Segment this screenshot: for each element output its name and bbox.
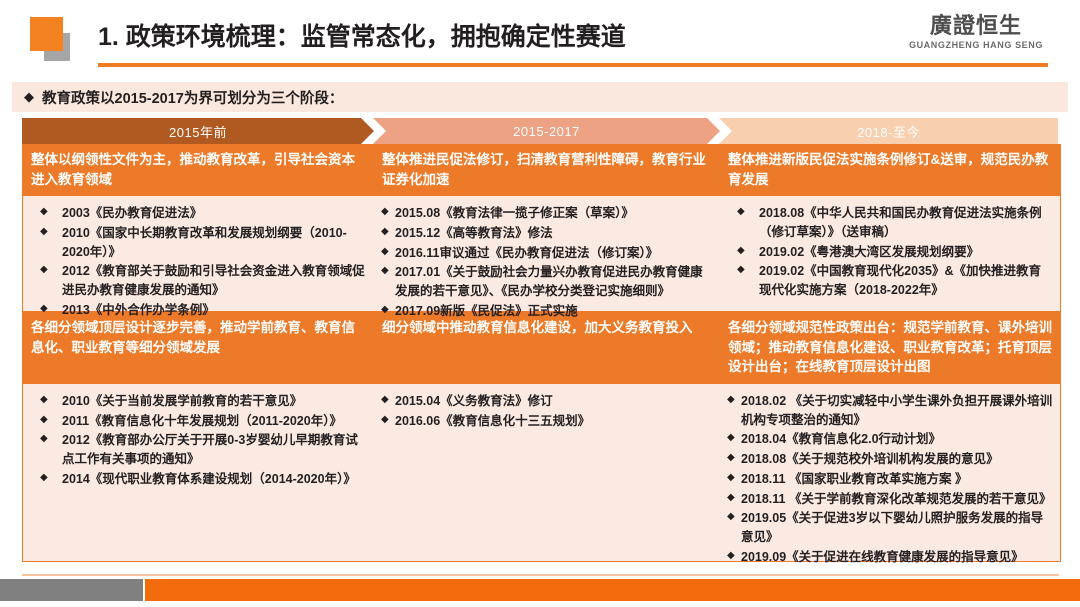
policy-list-item: 2019.05《关于促进3岁以下婴幼儿照护服务发展的指导意见》 <box>727 509 1053 547</box>
summary-band-2-cell-2: 细分领域中推动教育信息化建设，加大义务教育投入 <box>374 312 720 384</box>
policy-list-item: 2015.04《义务教育法》修订 <box>381 392 713 411</box>
phase-header-1: 2015年前 <box>22 118 374 144</box>
phase-header-2-label: 2015-2017 <box>513 124 580 139</box>
policy-list-2-cell-3: 2018.02 《关于切实减轻中小学生课外负担开展课外培训机构专项整治的通知》2… <box>720 384 1060 561</box>
policy-list-item: 2017.01《关于鼓励社会力量兴办教育促进民办教育健康发展的若干意见》、《民办… <box>381 263 713 301</box>
policy-list: 2018.02 《关于切实减轻中小学生课外负担开展课外培训机构专项整治的通知》2… <box>727 392 1053 567</box>
policy-list-item: 2018.11 《国家职业教育改革实施方案 》 <box>727 470 1053 489</box>
policy-list-row-1: 2003《民办教育促进法》2010《国家中长期教育改革和发展规划纲要（2010-… <box>22 196 1061 312</box>
policy-list-1-cell-1: 2003《民办教育促进法》2010《国家中长期教育改革和发展规划纲要（2010-… <box>23 196 374 311</box>
policy-list-item: 2019.02《粤港澳大湾区发展规划纲要》 <box>727 243 1053 262</box>
policy-list-1-cell-3: 2018.08《中华人民共和国民办教育促进法实施条例（修订草案）》（送审稿）20… <box>720 196 1060 311</box>
policy-list-1-cell-2: 2015.08《教育法律一揽子修正案（草案）》2015.12《高等教育法》修法2… <box>374 196 720 311</box>
policy-list-item: 2010《关于当前发展学前教育的若干意见》 <box>30 392 367 411</box>
policy-list-item: 2014《现代职业教育体系建设规划（2014-2020年）》 <box>30 470 367 489</box>
summary-band-2-cell-3: 各细分领域规范性政策出台：规范学前教育、课外培训领域；推动教育信息化建设、职业教… <box>720 312 1060 384</box>
slide-root: 1. 政策环境梳理：监管常态化，拥抱确定性赛道 廣證恒生 GUANGZHENG … <box>0 0 1080 607</box>
summary-band-1-cell-2: 整体推进民促法修订，扫清教育营利性障碍，教育行业证券化加速 <box>374 144 720 196</box>
summary-band-row-2: 各细分领域顶层设计逐步完善，推动学前教育、教育信息化、职业教育等细分领域发展 细… <box>22 312 1061 384</box>
footer-thin-line <box>22 574 1059 576</box>
policy-list-item: 2012《教育部关于鼓励和引导社会资金进入教育领域促进民办教育健康发展的通知》 <box>30 262 367 300</box>
title-underline <box>98 63 1048 67</box>
phase-header-1-label: 2015年前 <box>169 122 227 141</box>
policy-list-item: 2016.11审议通过《民办教育促进法（修订案）》 <box>381 244 713 263</box>
policy-list-item: 2018.02 《关于切实减轻中小学生课外负担开展课外培训机构专项整治的通知》 <box>727 392 1053 430</box>
lead-headline-bar: ◆ 教育政策以2015-2017为界可划分为三个阶段： <box>12 82 1068 112</box>
policy-list-item: 2018.04《教育信息化2.0行动计划》 <box>727 430 1053 449</box>
diamond-bullet-icon: ◆ <box>24 89 34 105</box>
policy-timeline-table: 2015年前 2015-2017 2018-至今 整体以纲领性文件为主，推动教育… <box>22 118 1059 562</box>
policy-list-item: 2011《教育信息化十年发展规划（2011-2020年）》 <box>30 412 367 431</box>
policy-list-item: 2018.08《中华人民共和国民办教育促进法实施条例（修订草案）》（送审稿） <box>727 204 1053 242</box>
logo-chinese-text: 廣證恒生 <box>896 14 1056 38</box>
footer-orange-bar <box>145 579 1080 601</box>
policy-list-item: 2016.06《教育信息化十三五规划》 <box>381 412 713 431</box>
policy-list-2-cell-2: 2015.04《义务教育法》修订2016.06《教育信息化十三五规划》 <box>374 384 720 561</box>
summary-band-row-1: 整体以纲领性文件为主，推动教育改革，引导社会资本进入教育领域 整体推进民促法修订… <box>22 144 1061 196</box>
phase-header-3-label: 2018-至今 <box>857 122 920 141</box>
policy-list-item: 2017.09新版《民促法》正式实施 <box>381 302 713 321</box>
policy-list: 2015.08《教育法律一揽子修正案（草案）》2015.12《高等教育法》修法2… <box>381 204 713 321</box>
company-logo: 廣證恒生 GUANGZHENG HANG SENG <box>896 14 1056 50</box>
policy-list-row-2: 2010《关于当前发展学前教育的若干意见》2011《教育信息化十年发展规划（20… <box>22 384 1061 562</box>
policy-list-item: 2015.08《教育法律一揽子修正案（草案）》 <box>381 204 713 223</box>
summary-band-2-cell-1: 各细分领域顶层设计逐步完善，推动学前教育、教育信息化、职业教育等细分领域发展 <box>23 312 374 384</box>
policy-list-item: 2012《教育部办公厅关于开展0-3岁婴幼儿早期教育试点工作有关事项的通知》 <box>30 431 367 469</box>
footer-gray-bar <box>0 579 143 601</box>
policy-list: 2003《民办教育促进法》2010《国家中长期教育改革和发展规划纲要（2010-… <box>30 204 367 320</box>
policy-list-item: 2018.08《关于规范校外培训机构发展的意见》 <box>727 450 1053 469</box>
summary-band-1-cell-3: 整体推进新版民促法实施条例修订&送审，规范民办教育发展 <box>720 144 1060 196</box>
lead-headline-text: 教育政策以2015-2017为界可划分为三个阶段： <box>42 87 343 108</box>
policy-list-2-cell-1: 2010《关于当前发展学前教育的若干意见》2011《教育信息化十年发展规划（20… <box>23 384 374 561</box>
policy-list: 2010《关于当前发展学前教育的若干意见》2011《教育信息化十年发展规划（20… <box>30 392 367 489</box>
policy-list-item: 2018.11 《关于学前教育深化改革规范发展的若干意见》 <box>727 490 1053 509</box>
policy-list-item: 2003《民办教育促进法》 <box>30 204 367 223</box>
policy-list-item: 2019.02《中国教育现代化2035》&《加快推进教育现代化实施方案（2018… <box>727 262 1053 300</box>
phase-header-2: 2015-2017 <box>373 118 720 144</box>
phase-header-row: 2015年前 2015-2017 2018-至今 <box>22 118 1059 144</box>
header-orange-square <box>30 17 63 51</box>
policy-list-item: 2013《中外合作办学条例》 <box>30 301 367 320</box>
policy-list-item: 2010《国家中长期教育改革和发展规划纲要（2010-2020年）》 <box>30 224 367 262</box>
page-title: 1. 政策环境梳理：监管常态化，拥抱确定性赛道 <box>98 17 626 53</box>
phase-header-3: 2018-至今 <box>719 118 1058 144</box>
summary-band-1-cell-1: 整体以纲领性文件为主，推动教育改革，引导社会资本进入教育领域 <box>23 144 374 196</box>
logo-english-text: GUANGZHENG HANG SENG <box>896 40 1056 50</box>
policy-list: 2015.04《义务教育法》修订2016.06《教育信息化十三五规划》 <box>381 392 713 431</box>
policy-list-item: 2019.09《关于促进在线教育健康发展的指导意见》 <box>727 548 1053 567</box>
policy-list: 2018.08《中华人民共和国民办教育促进法实施条例（修订草案）》（送审稿）20… <box>727 204 1053 300</box>
policy-list-item: 2015.12《高等教育法》修法 <box>381 224 713 243</box>
